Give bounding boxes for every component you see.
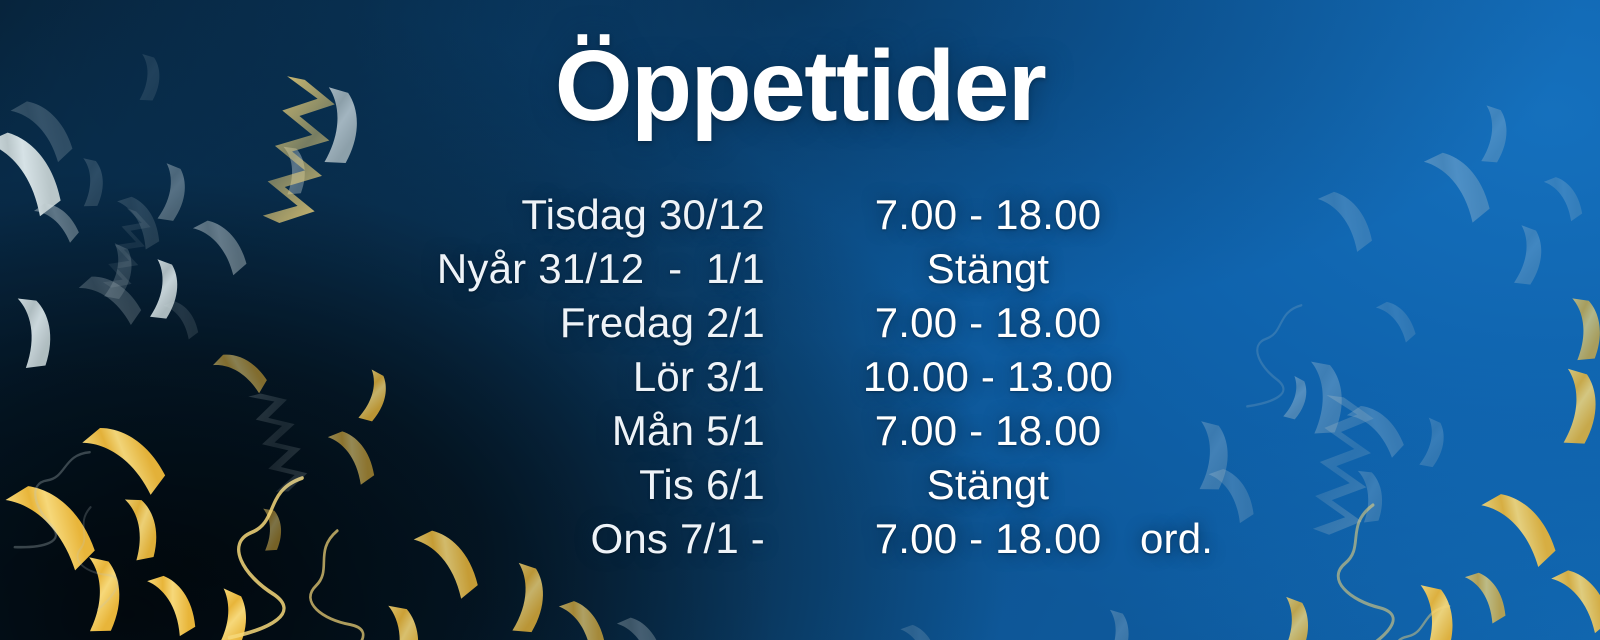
hours-value: 7.00 - 18.00: [765, 296, 1600, 350]
hours-value: 10.00 - 13.00: [765, 350, 1600, 404]
opening-hours-table: Tisdag 30/127.00 - 18.00Nyår 31/12 - 1/1…: [0, 188, 1600, 566]
openinghours-poster: Öppettider Tisdag 30/127.00 - 18.00Nyår …: [0, 0, 1600, 640]
table-row: Tis 6/1Stängt: [0, 458, 1600, 512]
hours-value: 7.00 - 18.00: [765, 188, 1600, 242]
hours-text: Stängt: [850, 242, 1126, 296]
hours-value: Stängt: [765, 458, 1600, 512]
table-row: Ons 7/1 -7.00 - 18.00ord.: [0, 512, 1600, 566]
table-row: Mån 5/17.00 - 18.00: [0, 404, 1600, 458]
hours-text: 7.00 - 18.00: [850, 296, 1126, 350]
hours-text: 7.00 - 18.00: [850, 512, 1126, 566]
table-row: Nyår 31/12 - 1/1Stängt: [0, 242, 1600, 296]
poster-content: Öppettider Tisdag 30/127.00 - 18.00Nyår …: [0, 0, 1600, 640]
hours-note: ord.: [1126, 512, 1213, 566]
day-label: Tis 6/1: [0, 458, 765, 512]
day-label: Nyår 31/12 - 1/1: [0, 242, 765, 296]
hours-text: Stängt: [850, 458, 1126, 512]
day-label: Lör 3/1: [0, 350, 765, 404]
hours-value: 7.00 - 18.00ord.: [765, 512, 1600, 566]
hours-text: 7.00 - 18.00: [850, 188, 1126, 242]
day-label: Ons 7/1 -: [0, 512, 765, 566]
hours-value: 7.00 - 18.00: [765, 404, 1600, 458]
hours-text: 7.00 - 18.00: [850, 404, 1126, 458]
hours-value: Stängt: [765, 242, 1600, 296]
day-label: Mån 5/1: [0, 404, 765, 458]
hours-text: 10.00 - 13.00: [850, 350, 1126, 404]
table-row: Lör 3/110.00 - 13.00: [0, 350, 1600, 404]
page-title: Öppettider: [0, 30, 1600, 142]
day-label: Tisdag 30/12: [0, 188, 765, 242]
table-row: Fredag 2/17.00 - 18.00: [0, 296, 1600, 350]
table-row: Tisdag 30/127.00 - 18.00: [0, 188, 1600, 242]
day-label: Fredag 2/1: [0, 296, 765, 350]
